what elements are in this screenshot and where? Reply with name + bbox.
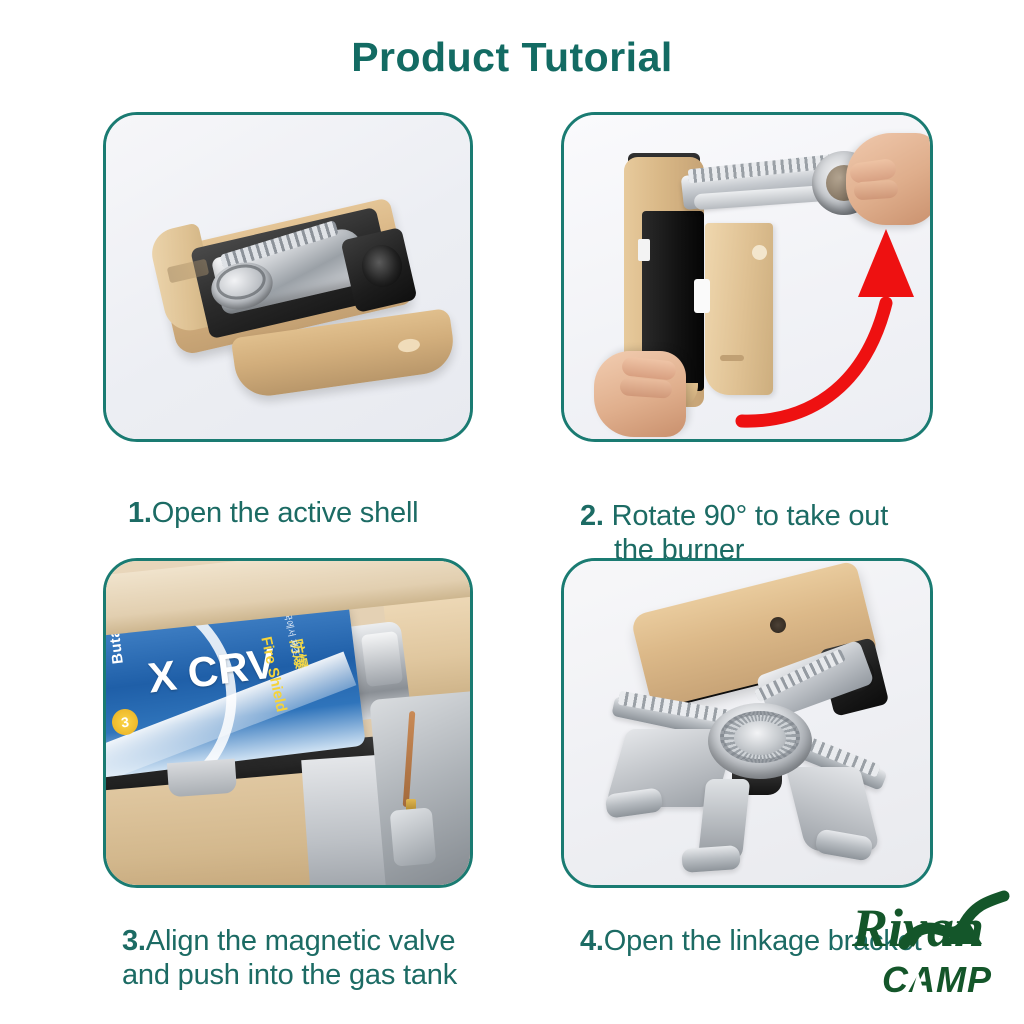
step-1-caption: 1.Open the active shell	[128, 497, 498, 531]
step-3-caption: 3.Align the magnetic valve and push into…	[122, 925, 542, 993]
canister-nozzle-tip	[361, 631, 403, 687]
step-4-text: Open the linkage bracket	[604, 925, 922, 957]
step-2-text-line2: the burner	[580, 534, 960, 568]
step-2-text: Rotate 90° to take out	[612, 500, 888, 532]
finger-lower-2	[619, 377, 672, 399]
step-1-text: Open the active shell	[152, 497, 419, 529]
watermark-tagline: CAMP	[882, 959, 992, 1000]
step-2-caption: 2. Rotate 90° to take out the burner	[580, 500, 960, 568]
step-1-number: 1.	[128, 497, 152, 529]
magnetic-valve-body	[390, 807, 437, 866]
step-3-illustration: Butane X CRV Fire Shield 防爆 한국에서 제조 3	[106, 561, 470, 885]
canister-retaining-clip	[167, 759, 237, 798]
foot-center	[681, 845, 741, 873]
step-1-illustration	[106, 115, 470, 439]
step-3-text-line2: and push into the gas tank	[122, 959, 542, 993]
burner-core	[734, 721, 786, 755]
step-2-image-panel	[561, 112, 933, 442]
step-3-number: 3.	[122, 925, 146, 957]
watermark-tree-icon	[912, 972, 924, 992]
step-2-illustration	[564, 115, 930, 439]
step-3-text: Align the magnetic valve	[146, 925, 456, 957]
step-4-number: 4.	[580, 925, 604, 957]
step-1-image-panel	[103, 112, 473, 442]
page-title: Product Tutorial	[0, 34, 1024, 81]
step-2-number: 2.	[580, 500, 604, 532]
step-4-illustration	[564, 561, 930, 885]
rotation-arrow-icon	[734, 211, 933, 441]
step-4-caption: 4.Open the linkage bracket	[580, 925, 980, 959]
frame-tab-upper	[638, 239, 650, 261]
step-4-image-panel	[561, 558, 933, 888]
tutorial-page: Product Tutorial	[0, 0, 1024, 1024]
frame-tab-lower	[694, 279, 710, 313]
finger-upper-2	[853, 179, 898, 200]
step-3-image-panel: Butane X CRV Fire Shield 防爆 한국에서 제조 3	[103, 558, 473, 888]
